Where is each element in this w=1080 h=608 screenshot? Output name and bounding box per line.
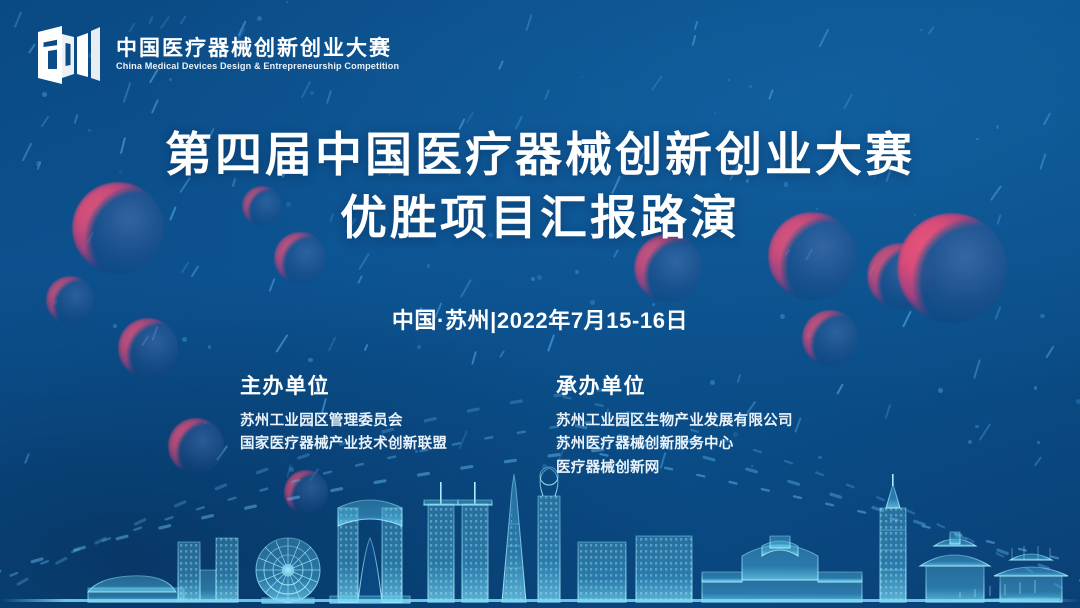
decorative-dash — [1045, 346, 1054, 359]
title-line-2: 优胜项目汇报路演 — [0, 190, 1080, 245]
decorative-dash — [471, 351, 477, 365]
decorative-dash — [180, 262, 189, 274]
decorative-dot — [417, 345, 421, 349]
decorative-dash — [651, 75, 663, 91]
decorative-dot — [581, 76, 583, 78]
decorative-dash — [149, 16, 154, 24]
decorative-dot — [308, 358, 313, 363]
decorative-dot — [257, 16, 262, 21]
decorative-dot — [728, 79, 730, 81]
organizer-co-host-line: 医疗器械创新网 — [556, 457, 850, 480]
decorative-dot — [42, 92, 47, 97]
organizer-host: 主办单位 苏州工业园区管理委员会 国家医疗器械产业技术创新联盟 — [230, 370, 540, 480]
decorative-dot — [531, 277, 535, 281]
landmark-grid-block-2 — [636, 536, 692, 602]
decorative-dash — [768, 89, 774, 100]
landmark-gate-of-the-orient — [330, 500, 410, 603]
decorative-dash — [498, 60, 504, 70]
decorative-dash — [613, 249, 619, 258]
landmark-spire-tower — [502, 474, 526, 602]
poster-canvas: 中国医疗器械创新创业大赛 China Medical Devices Desig… — [0, 0, 1080, 608]
decorative-dot — [575, 270, 579, 274]
decorative-dash — [268, 278, 275, 292]
landmark-twin-blocks — [178, 538, 238, 602]
landmark-temple-gate — [994, 546, 1068, 602]
decorative-dot — [286, 1, 289, 4]
decorative-dash — [819, 29, 830, 47]
decorative-dot — [920, 29, 922, 31]
organizer-co-host: 承办单位 苏州工业园区生物产业发展有限公司 苏州医疗器械创新服务中心 医疗器械创… — [540, 370, 850, 480]
decorative-dot — [714, 112, 716, 114]
decorative-dash — [1043, 112, 1051, 125]
landmark-ferris-wheel — [256, 538, 320, 603]
decorative-dash — [74, 114, 79, 125]
skyline-ground-line — [0, 599, 1080, 602]
organizer-host-line: 苏州工业园区管理委员会 — [240, 410, 540, 433]
organizer-block: 主办单位 苏州工业园区管理委员会 国家医疗器械产业技术创新联盟 承办单位 苏州工… — [0, 370, 1080, 480]
decorative-dash — [363, 344, 368, 351]
landmark-museum-hall — [702, 536, 862, 602]
decorative-dash — [326, 90, 332, 104]
decorative-dash — [14, 12, 22, 28]
organizer-host-heading: 主办单位 — [240, 370, 540, 400]
landmark-loop-top-tower — [538, 467, 560, 602]
decorative-dot — [749, 85, 752, 88]
decorative-dash — [328, 336, 337, 352]
decorative-dash — [692, 35, 697, 46]
decorative-dash — [547, 334, 555, 352]
decorative-dash — [151, 100, 159, 114]
decorative-dash — [275, 334, 288, 352]
decorative-dash — [357, 275, 363, 284]
landmark-twin-antenna-towers — [424, 482, 492, 602]
organizer-host-line: 国家医疗器械产业技术创新联盟 — [240, 433, 540, 456]
brand-name-en: China Medical Devices Design & Entrepren… — [116, 62, 399, 72]
brand-lockup: 中国医疗器械创新创业大赛 China Medical Devices Desig… — [36, 24, 411, 86]
decorative-dash — [460, 279, 472, 298]
landmark-pagoda — [880, 474, 906, 602]
title-line-1: 第四届中国医疗器械创新创业大赛 — [0, 127, 1080, 182]
organizer-co-host-line: 苏州工业园区生物产业发展有限公司 — [556, 410, 850, 433]
landmark-low-hall — [88, 576, 184, 602]
decorative-dash — [359, 253, 371, 270]
open-door-logo-icon — [36, 24, 102, 86]
decorative-dot — [537, 275, 542, 280]
decorative-dash — [843, 93, 853, 109]
decorative-dot — [427, 264, 430, 267]
organizer-co-host-heading: 承办单位 — [556, 370, 850, 400]
decorative-dash — [544, 89, 550, 100]
decorative-dash — [525, 14, 532, 31]
landmark-temple-pavilion — [920, 532, 990, 602]
decorative-dash — [498, 350, 504, 358]
decorative-dot — [208, 345, 211, 348]
decorative-dash — [190, 265, 198, 277]
decorative-dash — [928, 26, 935, 35]
brand-name-cn: 中国医疗器械创新创业大赛 — [116, 38, 411, 59]
decorative-dash — [41, 115, 50, 127]
decorative-dash — [28, 44, 36, 54]
decorative-dash — [466, 111, 474, 123]
poster-title-block: 第四届中国医疗器械创新创业大赛 优胜项目汇报路演 — [0, 127, 1080, 246]
decorative-dot — [182, 337, 187, 342]
event-meta-line: 中国·苏州|2022年7月15-16日 — [0, 303, 1080, 335]
organizer-co-host-line: 苏州医疗器械创新服务中心 — [556, 433, 850, 456]
landmark-grid-block-1 — [578, 542, 626, 602]
landmark-river-bridge — [940, 580, 1060, 602]
decorative-dot — [310, 91, 314, 95]
decorative-dash — [694, 21, 699, 30]
